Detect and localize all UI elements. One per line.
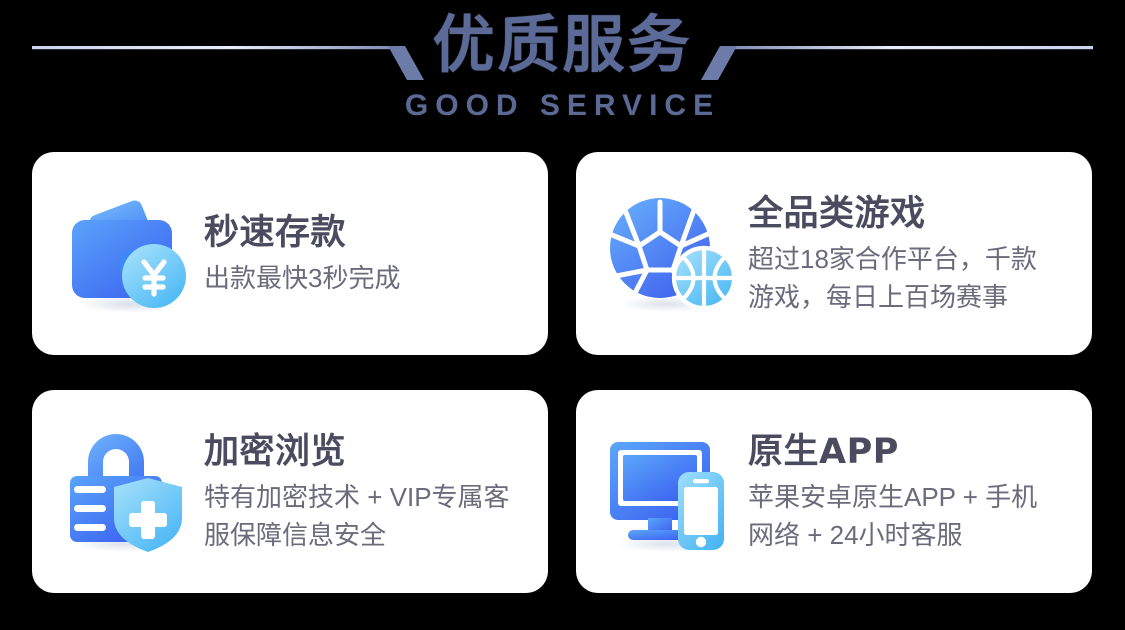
title-block: 优质服务 GOOD SERVICE [0,6,1125,126]
page-header: 优质服务 GOOD SERVICE [0,0,1125,145]
card-text-block: 加密浏览 特有加密技术 + VIP专属客 服保障信息安全 [192,430,538,554]
card-description-line: 超过18家合作平台，千款 [748,240,1082,278]
card-description-line: 特有加密技术 + VIP专属客 [204,478,538,516]
card-text-block: 秒速存款 出款最快3秒完成 [192,211,538,297]
card-description-line: 游戏，每日上百场赛事 [748,278,1082,316]
card-description-line: 服保障信息安全 [204,516,538,554]
card-description: 超过18家合作平台，千款 游戏，每日上百场赛事 [748,240,1082,316]
lock-shield-icon [60,426,192,558]
card-text-block: 原生APP 苹果安卓原生APP + 手机 网络 + 24小时客服 [736,430,1082,554]
feature-card-native-app[interactable]: 原生APP 苹果安卓原生APP + 手机 网络 + 24小时客服 [576,390,1092,593]
card-description-line: 出款最快3秒完成 [204,259,538,297]
monitor-phone-icon [604,426,736,558]
page-subtitle: GOOD SERVICE [0,86,1125,126]
card-title: 加密浏览 [204,430,538,474]
card-text-block: 全品类游戏 超过18家合作平台，千款 游戏，每日上百场赛事 [736,192,1082,316]
soccer-basketball-icon [604,188,736,320]
wallet-yen-icon [60,188,192,320]
card-title: 秒速存款 [204,211,538,255]
feature-card-games[interactable]: 全品类游戏 超过18家合作平台，千款 游戏，每日上百场赛事 [576,152,1092,355]
card-description: 苹果安卓原生APP + 手机 网络 + 24小时客服 [748,478,1082,554]
page-title: 优质服务 [0,6,1125,84]
card-description-line: 网络 + 24小时客服 [748,516,1082,554]
feature-card-deposit[interactable]: 秒速存款 出款最快3秒完成 [32,152,548,355]
card-description: 特有加密技术 + VIP专属客 服保障信息安全 [204,478,538,554]
card-title: 原生APP [748,430,1082,474]
feature-card-encryption[interactable]: 加密浏览 特有加密技术 + VIP专属客 服保障信息安全 [32,390,548,593]
card-title: 全品类游戏 [748,192,1082,236]
feature-card-grid: 秒速存款 出款最快3秒完成 [32,152,1092,593]
card-description: 出款最快3秒完成 [204,259,538,297]
card-description-line: 苹果安卓原生APP + 手机 [748,478,1082,516]
